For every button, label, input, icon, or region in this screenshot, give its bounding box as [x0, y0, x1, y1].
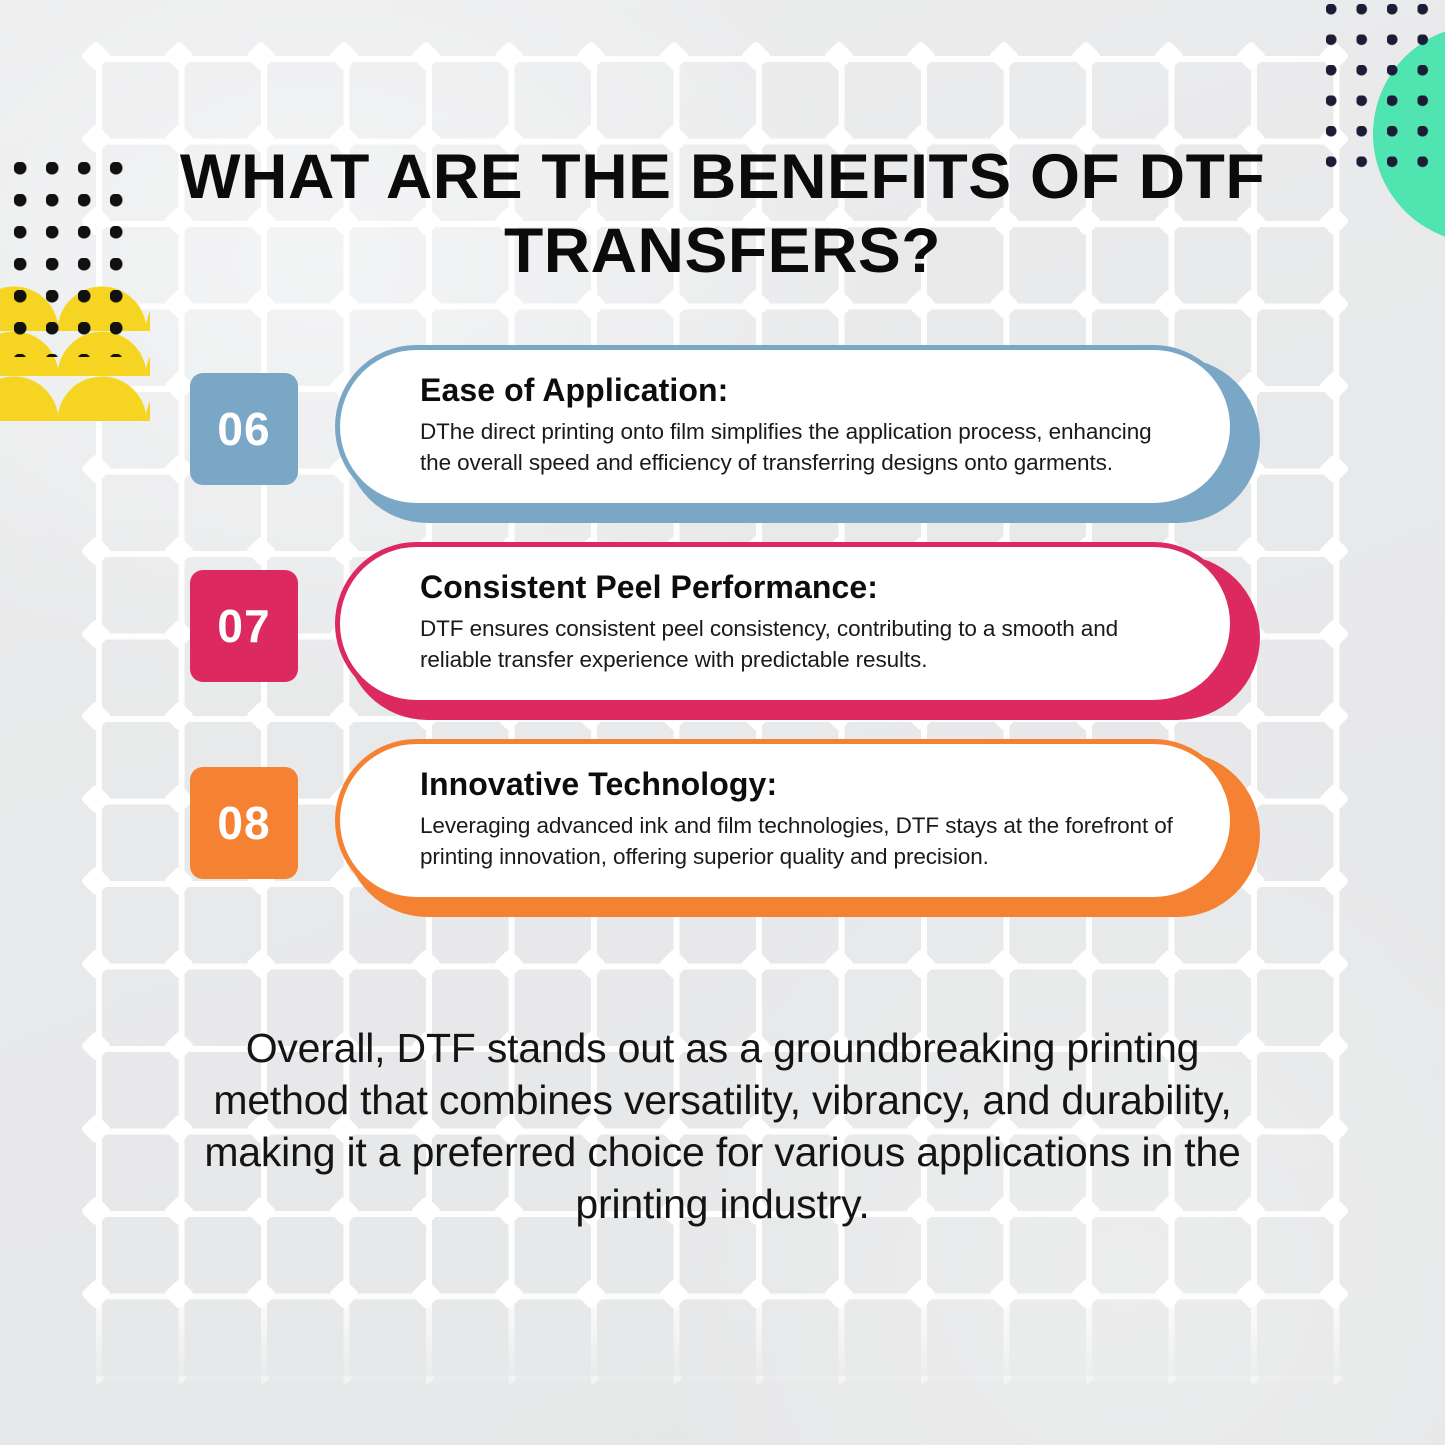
summary-paragraph: Overall, DTF stands out as a groundbreak…	[180, 1022, 1265, 1230]
card-title: Innovative Technology:	[420, 764, 1184, 804]
infographic-canvas: WHAT ARE THE BENEFITS OF DTF TRANSFERS? …	[0, 0, 1445, 1445]
card-number-label: 06	[217, 402, 270, 456]
card-title: Consistent Peel Performance:	[420, 567, 1184, 607]
card-description: DTF ensures consistent peel consistency,…	[420, 613, 1184, 675]
benefit-card-07[interactable]: 07 Consistent Peel Performance: DTF ensu…	[0, 537, 1445, 727]
card-number-badge: 06	[190, 373, 298, 485]
card-description: Leveraging advanced ink and film technol…	[420, 810, 1184, 872]
page-title: WHAT ARE THE BENEFITS OF DTF TRANSFERS?	[159, 140, 1286, 288]
content-layer: WHAT ARE THE BENEFITS OF DTF TRANSFERS? …	[0, 0, 1445, 1445]
card-body-panel[interactable]: Innovative Technology: Leveraging advanc…	[335, 739, 1235, 902]
card-body-panel[interactable]: Consistent Peel Performance: DTF ensures…	[335, 542, 1235, 705]
card-title: Ease of Application:	[420, 370, 1184, 410]
benefit-card-08[interactable]: 08 Innovative Technology: Leveraging adv…	[0, 734, 1445, 924]
card-number-label: 07	[217, 599, 270, 653]
card-number-badge: 07	[190, 570, 298, 682]
card-body-panel[interactable]: Ease of Application: DThe direct printin…	[335, 345, 1235, 508]
card-number-label: 08	[217, 796, 270, 850]
card-number-badge: 08	[190, 767, 298, 879]
benefit-card-06[interactable]: 06 Ease of Application: DThe direct prin…	[0, 340, 1445, 530]
card-description: DThe direct printing onto film simplifie…	[420, 416, 1184, 478]
